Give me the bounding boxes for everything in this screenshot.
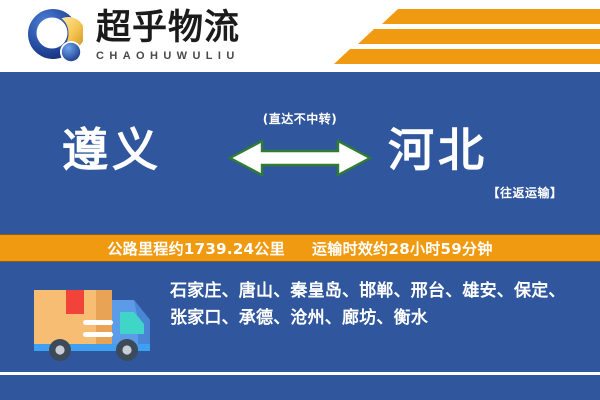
road-distance-text: 公路里程约1739.24公里 (107, 240, 285, 258)
circle-crescent-logo-icon (27, 9, 83, 65)
header-stripe-1 (382, 9, 600, 24)
direct-shipping-note: (直达不中转) (225, 110, 375, 127)
header-stripe-2 (358, 29, 600, 44)
banner-header: 超乎物流 CHAOHUWULIU (0, 0, 600, 72)
info-bar-content: 公路里程约1739.24公里 运输时效约28小时59分钟 (107, 238, 492, 259)
header-stripes-decoration (330, 0, 600, 72)
brand-name-en: CHAOHUWULIU (96, 49, 266, 63)
logistics-route-banner: 超乎物流 CHAOHUWULIU 遵义 (直达不中转) 【往返运输】 河北 公路… (0, 0, 600, 400)
brand-lockup: 超乎物流 CHAOHUWULIU (96, 8, 266, 66)
covered-cities-list: 石家庄、唐山、秦皇岛、邯郸、邢台、雄安、保定、张家口、承德、沧州、廊坊、衡水 (170, 278, 582, 332)
origin-city: 遵义 (62, 122, 162, 178)
destination-city: 河北 (388, 122, 488, 178)
route-info-bar: 公路里程约1739.24公里 运输时效约28小时59分钟 (0, 234, 600, 262)
bottom-divider (0, 372, 600, 375)
delivery-truck-icon (26, 276, 158, 367)
transit-duration-text: 运输时效约28小时59分钟 (312, 240, 493, 258)
brand-name-cn: 超乎物流 (96, 8, 266, 48)
route-section: 遵义 (直达不中转) 【往返运输】 河北 (0, 72, 600, 234)
route-arrow-group: (直达不中转) 【往返运输】 (225, 110, 375, 204)
coverage-section: 石家庄、唐山、秦皇岛、邯郸、邢台、雄安、保定、张家口、承德、沧州、廊坊、衡水 (0, 262, 600, 400)
double-headed-arrow-icon (228, 134, 372, 185)
header-stripe-3 (334, 49, 600, 64)
